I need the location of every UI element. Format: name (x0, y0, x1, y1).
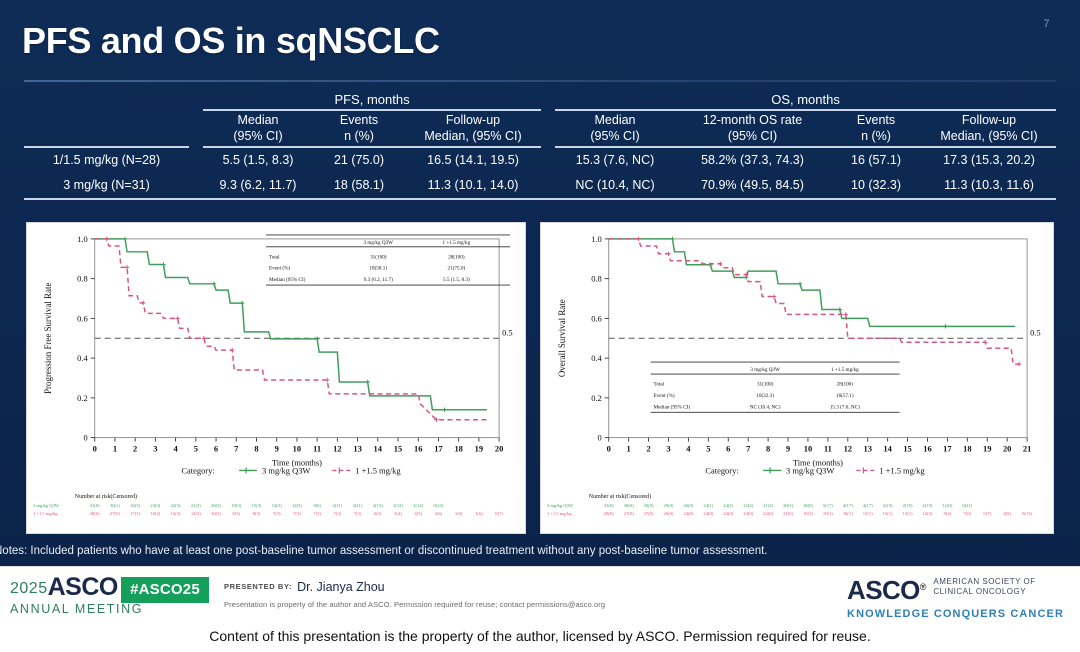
svg-text:8: 8 (766, 444, 770, 454)
svg-text:7(6): 7(6) (964, 511, 972, 516)
col-os-median-l2: (95% CI) (590, 129, 639, 143)
group-header-pfs: PFS, months (203, 90, 541, 110)
col-os-followup: Follow-up Median, (95% CI) (922, 110, 1056, 147)
svg-text:0.4: 0.4 (77, 353, 88, 363)
os-plot-svg: 00.20.40.60.81.0Overall Survival Rate012… (541, 223, 1053, 533)
svg-text:1 +1.5 mg/kg: 1 +1.5 mg/kg (355, 465, 401, 475)
svg-text:2: 2 (133, 444, 137, 454)
cell-os-events: 16 (57.1) (830, 147, 922, 173)
svg-text:28(0): 28(0) (604, 511, 614, 516)
svg-text:19(1): 19(1) (803, 511, 813, 516)
svg-text:0.6: 0.6 (591, 313, 602, 323)
col-pfs-followup: Follow-up Median, (95% CI) (405, 110, 541, 147)
bottom-caption: Content of this presentation is the prop… (0, 620, 1080, 652)
cell-os-median: NC (10.4, NC) (555, 173, 675, 199)
svg-text:3 mg/kg Q3W: 3 mg/kg Q3W (364, 240, 394, 246)
svg-text:4(5): 4(5) (414, 511, 422, 516)
slide-root: 7 PFS and OS in sqNSCLC PFS, months OS, … (0, 0, 1080, 652)
svg-text:Median (95% CI): Median (95% CI) (654, 403, 691, 410)
slide-body: 7 PFS and OS in sqNSCLC PFS, months OS, … (0, 0, 1080, 566)
svg-text:27(0): 27(0) (110, 511, 120, 516)
svg-text:1: 1 (627, 444, 631, 454)
svg-text:7: 7 (746, 444, 751, 454)
presented-by-label: PRESENTED BY: (224, 582, 292, 591)
svg-text:0.2: 0.2 (591, 393, 602, 403)
svg-text:Overall Survival Rate: Overall Survival Rate (557, 299, 567, 377)
registered-mark-icon: ® (920, 582, 927, 592)
svg-text:13: 13 (863, 444, 871, 454)
cell-os-12mo-rate: 70.9% (49.5, 84.5) (675, 173, 830, 199)
svg-text:5(4): 5(4) (394, 511, 402, 516)
svg-text:3 mg/kg Q3W: 3 mg/kg Q3W (547, 503, 574, 508)
svg-text:NC (10.4, NC): NC (10.4, NC) (750, 403, 781, 410)
svg-text:Total: Total (269, 254, 280, 260)
svg-text:1 +1.5 mg/kg: 1 +1.5 mg/kg (33, 511, 58, 516)
cell-os-12mo-rate: 58.2% (37.3, 74.3) (675, 147, 830, 173)
svg-text:15.3 (7.6, NC): 15.3 (7.6, NC) (830, 403, 860, 410)
svg-text:17(1): 17(1) (130, 511, 140, 516)
svg-text:3 mg/kg Q3W: 3 mg/kg Q3W (33, 503, 60, 508)
svg-text:Category:: Category: (181, 465, 214, 475)
asco-logo: ASCO®AMERICAN SOCIETY OFCLINICAL ONCOLOG… (847, 575, 1064, 620)
permission-text: Presentation is property of the author a… (224, 600, 605, 609)
col-pfs-median: Median (95% CI) (203, 110, 313, 147)
svg-text:2(13): 2(13) (373, 503, 383, 508)
svg-text:14: 14 (374, 444, 383, 454)
svg-text:17: 17 (434, 444, 443, 454)
svg-text:19: 19 (983, 444, 991, 454)
svg-text:Progression Free Survival Rate: Progression Free Survival Rate (43, 283, 53, 394)
col-pfs-followup-l1: Follow-up (446, 113, 500, 127)
svg-text:0.8: 0.8 (591, 274, 602, 284)
svg-text:1(12): 1(12) (393, 503, 403, 508)
svg-text:15(1): 15(1) (863, 511, 873, 516)
asco-society-name: AMERICAN SOCIETY OFCLINICAL ONCOLOGY (933, 577, 1035, 597)
svg-text:20: 20 (1003, 444, 1011, 454)
svg-text:10(32.3): 10(32.3) (756, 392, 774, 399)
pfs-chart-panel: 00.20.40.60.81.0Progression Free Surviva… (26, 222, 526, 534)
svg-text:26(0): 26(0) (683, 503, 693, 508)
col-pfs-followup-l2: Median, (95% CI) (424, 129, 521, 143)
svg-text:3: 3 (666, 444, 670, 454)
svg-text:5(17): 5(17) (823, 503, 833, 508)
svg-text:2(19): 2(19) (923, 503, 933, 508)
col-os-events-l1: Events (857, 113, 895, 127)
svg-text:7(3): 7(3) (313, 511, 321, 516)
svg-text:1 +1.5 mg/kg: 1 +1.5 mg/kg (547, 511, 572, 516)
svg-text:15: 15 (903, 444, 911, 454)
svg-text:11: 11 (824, 444, 832, 454)
cell-os-events: 10 (32.3) (830, 173, 922, 199)
svg-text:19(3): 19(3) (231, 503, 241, 508)
col-os-12mo-rate: 12-month OS rate (95% CI) (675, 110, 830, 147)
svg-text:8(3): 8(3) (232, 511, 240, 516)
svg-text:2(11): 2(11) (353, 503, 363, 508)
col-pfs-median-l2: (95% CI) (233, 129, 282, 143)
meeting-sub: ANNUAL MEETING (10, 603, 143, 616)
svg-text:3: 3 (153, 444, 157, 454)
svg-text:12(3): 12(3) (191, 511, 201, 516)
svg-text:11: 11 (313, 444, 321, 454)
svg-text:3 mg/kg Q3W: 3 mg/kg Q3W (750, 367, 780, 373)
svg-text:0: 0 (84, 433, 88, 443)
svg-text:4: 4 (173, 444, 178, 454)
svg-text:18(58.1): 18(58.1) (369, 265, 387, 272)
svg-text:Median (95% CI): Median (95% CI) (269, 276, 306, 283)
svg-text:Number at risk(Censored): Number at risk(Censored) (75, 493, 137, 500)
svg-text:0: 0 (598, 433, 602, 443)
svg-text:1(12): 1(12) (413, 503, 423, 508)
svg-text:10: 10 (804, 444, 812, 454)
svg-text:Total: Total (654, 381, 665, 387)
svg-text:30(1): 30(1) (110, 503, 120, 508)
svg-text:7: 7 (234, 444, 239, 454)
svg-text:26(3): 26(3) (130, 503, 140, 508)
svg-text:0: 0 (607, 444, 611, 454)
svg-text:22(3): 22(3) (171, 503, 181, 508)
svg-text:1(6): 1(6) (475, 511, 483, 516)
svg-text:31(0): 31(0) (604, 503, 614, 508)
svg-text:1 +1.5 mg/kg: 1 +1.5 mg/kg (879, 465, 925, 475)
col-pfs-median-l1: Median (238, 113, 279, 127)
svg-text:16(2): 16(2) (150, 511, 160, 516)
cell-os-followup: 11.3 (10.3, 11.6) (922, 173, 1056, 199)
svg-text:20(3): 20(3) (783, 503, 793, 508)
svg-text:7(3): 7(3) (354, 511, 362, 516)
svg-text:19(1): 19(1) (823, 511, 833, 516)
results-table: PFS, months OS, months Median (95% CI) E… (24, 90, 1056, 200)
svg-text:1: 1 (113, 444, 117, 454)
pfs-plot: 00.20.40.60.81.0Progression Free Surviva… (27, 223, 525, 533)
svg-text:31(0): 31(0) (90, 503, 100, 508)
svg-text:9.3 (6.2, 11.7): 9.3 (6.2, 11.7) (364, 276, 393, 283)
svg-text:31(100): 31(100) (757, 380, 774, 387)
svg-text:24(1): 24(1) (703, 503, 713, 508)
svg-text:10: 10 (293, 444, 301, 454)
presenter-name: Dr. Jianya Zhou (297, 580, 385, 594)
svg-text:5: 5 (706, 444, 710, 454)
svg-text:20: 20 (495, 444, 503, 454)
table-group-header-row: PFS, months OS, months (24, 90, 1056, 110)
svg-text:12: 12 (844, 444, 852, 454)
svg-text:0(7): 0(7) (495, 511, 503, 516)
svg-text:12: 12 (333, 444, 341, 454)
svg-text:12(2): 12(2) (923, 511, 933, 516)
cell-pfs-followup: 16.5 (14.1, 19.5) (405, 147, 541, 173)
svg-text:7(3): 7(3) (334, 511, 342, 516)
svg-text:Event (%): Event (%) (654, 392, 675, 399)
svg-text:Category:: Category: (705, 465, 738, 475)
svg-text:13(3): 13(3) (171, 511, 181, 516)
svg-text:2(6): 2(6) (435, 511, 443, 516)
svg-text:27(0): 27(0) (644, 511, 654, 516)
svg-text:26(0): 26(0) (664, 511, 674, 516)
svg-text:9: 9 (786, 444, 790, 454)
svg-text:17: 17 (943, 444, 952, 454)
svg-text:0.4: 0.4 (591, 353, 602, 363)
asco-society-l2: CLINICAL ONCOLOGY (933, 587, 1026, 596)
svg-text:4: 4 (686, 444, 691, 454)
svg-text:18(0): 18(0) (803, 503, 813, 508)
svg-text:4(17): 4(17) (843, 503, 853, 508)
svg-text:1(20): 1(20) (942, 503, 952, 508)
meeting-brand: ASCO (48, 573, 118, 601)
svg-text:0(13): 0(13) (1022, 511, 1032, 516)
col-os-followup-l2: Median, (95% CI) (940, 129, 1037, 143)
svg-text:21: 21 (1023, 444, 1031, 454)
svg-text:7(3): 7(3) (273, 511, 281, 516)
svg-text:0(21): 0(21) (962, 503, 972, 508)
col-os-events-l2: n (%) (861, 129, 891, 143)
svg-text:4(17): 4(17) (863, 503, 873, 508)
svg-text:22(0): 22(0) (763, 511, 773, 516)
cell-pfs-median: 5.5 (1.5, 8.3) (203, 147, 313, 173)
svg-text:21(3): 21(3) (191, 503, 201, 508)
svg-text:Event (%): Event (%) (269, 265, 290, 272)
footnote-text: Notes: Included patients who have at lea… (0, 545, 767, 557)
svg-text:13(1): 13(1) (903, 511, 913, 516)
svg-text:Number at risk(Censored): Number at risk(Censored) (589, 493, 651, 500)
svg-text:0(13): 0(13) (433, 503, 443, 508)
svg-text:15(1): 15(1) (883, 511, 893, 516)
asco-wordmark: ASCO (847, 575, 920, 605)
svg-text:24(0): 24(0) (703, 511, 713, 516)
svg-text:29(0): 29(0) (664, 503, 674, 508)
svg-text:0.5: 0.5 (1030, 327, 1041, 337)
col-pfs-events: Events n (%) (313, 110, 405, 147)
svg-text:28(0): 28(0) (90, 511, 100, 516)
svg-text:24(1): 24(1) (723, 503, 733, 508)
svg-text:18(1): 18(1) (843, 511, 853, 516)
col-pfs-events-l2: n (%) (344, 129, 374, 143)
col-os-median: Median (95% CI) (555, 110, 675, 147)
svg-text:16: 16 (923, 444, 931, 454)
meeting-year: 2025 (10, 580, 48, 597)
svg-text:23(3): 23(3) (150, 503, 160, 508)
svg-text:16: 16 (414, 444, 422, 454)
svg-text:7(3): 7(3) (293, 511, 301, 516)
svg-text:1(6): 1(6) (455, 511, 463, 516)
svg-text:6(3): 6(3) (374, 511, 382, 516)
svg-text:24(0): 24(0) (743, 511, 753, 516)
col-os-rate-l1: 12-month OS rate (703, 113, 802, 127)
cell-os-followup: 17.3 (15.3, 20.2) (922, 147, 1056, 173)
cell-pfs-followup: 11.3 (10.1, 14.0) (405, 173, 541, 199)
col-os-median-l1: Median (595, 113, 636, 127)
cell-pfs-median: 9.3 (6.2, 11.7) (203, 173, 313, 199)
svg-text:0.8: 0.8 (77, 274, 88, 284)
svg-text:15: 15 (394, 444, 402, 454)
cell-os-median: 15.3 (7.6, NC) (555, 147, 675, 173)
svg-text:9: 9 (275, 444, 279, 454)
svg-text:19: 19 (475, 444, 483, 454)
svg-text:14: 14 (883, 444, 892, 454)
table-row: 3 mg/kg (N=31) 9.3 (6.2, 11.7) 18 (58.1)… (24, 173, 1056, 199)
col-os-followup-l1: Follow-up (962, 113, 1016, 127)
svg-text:2(19): 2(19) (883, 503, 893, 508)
footnote: Notes: Included patients who have at lea… (0, 538, 1080, 564)
svg-text:6(7): 6(7) (983, 511, 991, 516)
svg-text:31(100): 31(100) (370, 253, 387, 260)
svg-text:1.0: 1.0 (591, 234, 602, 244)
svg-text:27(0): 27(0) (624, 511, 634, 516)
svg-text:30(0): 30(0) (624, 503, 634, 508)
svg-text:20(3): 20(3) (211, 503, 221, 508)
hashtag-badge: #ASCO25 (121, 577, 209, 603)
svg-text:0.2: 0.2 (77, 393, 88, 403)
svg-text:6: 6 (726, 444, 730, 454)
svg-text:21(2): 21(2) (763, 503, 773, 508)
svg-text:21(0): 21(0) (783, 511, 793, 516)
table-column-header-row: Median (95% CI) Events n (%) Follow-up M… (24, 110, 1056, 147)
svg-text:24(0): 24(0) (683, 511, 693, 516)
svg-text:21(75.0): 21(75.0) (448, 265, 466, 272)
svg-text:30(0): 30(0) (644, 503, 654, 508)
svg-text:1 +1.5 mg/kg: 1 +1.5 mg/kg (831, 367, 859, 373)
svg-text:9(6): 9(6) (313, 503, 321, 508)
svg-text:4(9): 4(9) (1003, 511, 1011, 516)
cell-pfs-events: 21 (75.0) (313, 147, 405, 173)
svg-text:12(5): 12(5) (292, 503, 302, 508)
cell-pfs-events: 18 (58.1) (313, 173, 405, 199)
pfs-plot-svg: 00.20.40.60.81.0Progression Free Surviva… (27, 223, 525, 533)
svg-text:6: 6 (214, 444, 218, 454)
col-os-events: Events n (%) (830, 110, 922, 147)
row-arm-label: 3 mg/kg (N=31) (24, 173, 189, 199)
svg-text:3 mg/kg Q3W: 3 mg/kg Q3W (262, 465, 310, 475)
slide-number: 7 (1043, 18, 1050, 30)
svg-text:8: 8 (254, 444, 258, 454)
os-chart-panel: 00.20.40.60.81.0Overall Survival Rate012… (540, 222, 1054, 534)
svg-text:13: 13 (353, 444, 361, 454)
svg-text:14(3): 14(3) (272, 503, 282, 508)
svg-text:22(2): 22(2) (743, 503, 753, 508)
svg-text:2: 2 (646, 444, 650, 454)
svg-text:1.0: 1.0 (77, 234, 88, 244)
svg-text:2(11): 2(11) (332, 503, 342, 508)
svg-text:18: 18 (454, 444, 462, 454)
svg-text:9(4): 9(4) (944, 511, 952, 516)
svg-text:15(3): 15(3) (252, 503, 262, 508)
svg-text:1 +1.5 mg/kg: 1 +1.5 mg/kg (443, 240, 471, 246)
group-header-os: OS, months (555, 90, 1056, 110)
svg-text:18: 18 (963, 444, 971, 454)
table-row: 1/1.5 mg/kg (N=28) 5.5 (1.5, 8.3) 21 (75… (24, 147, 1056, 173)
svg-text:28(100): 28(100) (448, 253, 465, 260)
svg-text:0.6: 0.6 (77, 313, 88, 323)
svg-text:0.5: 0.5 (502, 327, 513, 337)
svg-text:28(100): 28(100) (837, 380, 854, 387)
title-divider (24, 80, 1056, 82)
svg-text:0: 0 (93, 444, 97, 454)
asco-tagline: KNOWLEDGE CONQUERS CANCER (847, 608, 1064, 620)
slide-footer: 2025ASCO ANNUAL MEETING #ASCO25 PRESENTE… (0, 566, 1080, 619)
svg-text:8(3): 8(3) (253, 511, 261, 516)
page-title: PFS and OS in sqNSCLC (22, 20, 440, 62)
asco-society-l1: AMERICAN SOCIETY OF (933, 577, 1035, 586)
row-arm-label: 1/1.5 mg/kg (N=28) (24, 147, 189, 173)
svg-text:24(0): 24(0) (723, 511, 733, 516)
os-plot: 00.20.40.60.81.0Overall Survival Rate012… (541, 223, 1053, 533)
svg-text:5.5 (1.5, 8.3): 5.5 (1.5, 8.3) (443, 276, 470, 283)
svg-text:3 mg/kg Q3W: 3 mg/kg Q3W (786, 465, 834, 475)
svg-text:2(19): 2(19) (903, 503, 913, 508)
svg-text:16(57.1): 16(57.1) (836, 392, 854, 399)
svg-text:5: 5 (194, 444, 198, 454)
presented-by-block: PRESENTED BY:Dr. Jianya Zhou Presentatio… (224, 578, 605, 609)
col-pfs-events-l1: Events (340, 113, 378, 127)
col-os-rate-l2: (95% CI) (728, 129, 777, 143)
svg-text:10(3): 10(3) (211, 511, 221, 516)
